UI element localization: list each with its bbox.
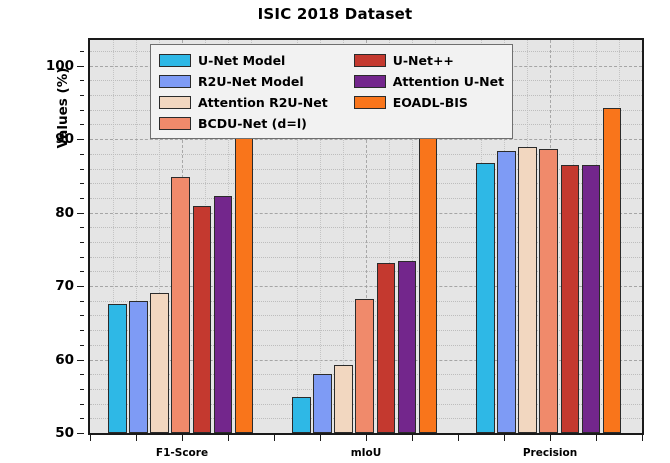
bar-attention-r2u-net-miou: [334, 365, 353, 433]
y-tick-minor: [80, 418, 84, 419]
chart-figure: ISIC 2018 Dataset Values (%) 50607080901…: [0, 0, 670, 463]
y-tick-minor: [80, 389, 84, 390]
bar-u-net-model-precision: [476, 163, 495, 433]
x-tick: [228, 435, 229, 441]
legend-swatch-icon: [159, 75, 191, 88]
bar-bcdu-net-d-l-precision: [539, 149, 558, 433]
bar-bcdu-net-d-l-miou: [355, 299, 374, 433]
legend-item-eoadl-bis[interactable]: EOADL-BIS: [354, 92, 504, 112]
y-tick-label: 90: [55, 131, 74, 147]
bar-eoadl-bis-precision: [603, 108, 622, 433]
legend-label: Attention U-Net: [393, 74, 504, 89]
y-tick-minor: [80, 404, 84, 405]
y-tick-minor: [80, 227, 84, 228]
y-tick-label: 60: [55, 352, 74, 368]
bar-u-net-precision: [561, 165, 580, 433]
y-tick-minor: [80, 315, 84, 316]
y-axis-tick-labels: 5060708090100: [0, 38, 84, 435]
legend-swatch-icon: [159, 54, 191, 67]
y-tick-label: 100: [46, 58, 74, 74]
y-tick-minor: [80, 169, 84, 170]
y-tick-minor: [80, 198, 84, 199]
legend-label: BCDU-Net (d=l): [198, 116, 307, 131]
y-tick-label: 70: [55, 278, 74, 294]
legend-label: EOADL-BIS: [393, 95, 468, 110]
chart-title: ISIC 2018 Dataset: [0, 5, 670, 23]
bar-attention-r2u-net-f1-score: [150, 293, 169, 433]
y-tick-minor: [80, 257, 84, 258]
x-tick-label-precision: Precision: [523, 447, 577, 459]
bar-u-net-f1-score: [193, 206, 212, 433]
y-tick-minor: [80, 345, 84, 346]
x-tick-label-f1-score: F1-Score: [156, 447, 208, 459]
legend-item-r2u-net-model[interactable]: R2U-Net Model: [159, 71, 328, 91]
y-tick-minor: [80, 301, 84, 302]
legend-label: R2U-Net Model: [198, 74, 304, 89]
bar-attention-r2u-net-precision: [518, 147, 537, 433]
legend-swatch-icon: [159, 96, 191, 109]
bar-eoadl-bis-f1-score: [235, 108, 254, 433]
bar-u-net-miou: [377, 263, 396, 433]
bar-u-net-model-miou: [292, 397, 311, 433]
y-tick-major: [77, 213, 84, 214]
y-tick-label: 50: [55, 425, 74, 441]
legend-swatch-icon: [354, 54, 386, 67]
legend-item-u-net-model[interactable]: U-Net Model: [159, 50, 328, 70]
x-tick: [274, 435, 275, 441]
legend-item-u-net[interactable]: U-Net++: [354, 50, 504, 70]
y-tick-major: [77, 433, 84, 434]
y-tick-minor: [80, 330, 84, 331]
legend-swatch-icon: [354, 75, 386, 88]
bar-attention-u-net-precision: [582, 165, 601, 433]
chart-legend: U-Net ModelU-Net++R2U-Net ModelAttention…: [150, 44, 513, 139]
x-tick: [136, 435, 137, 441]
bar-r2u-net-model-f1-score: [129, 301, 148, 433]
x-axis-tick-labels: F1-ScoremIoUPrecision: [88, 435, 644, 463]
bar-bcdu-net-d-l-f1-score: [171, 177, 190, 433]
legend-item-attention-r2u-net[interactable]: Attention R2U-Net: [159, 92, 328, 112]
bar-attention-u-net-f1-score: [214, 196, 233, 433]
y-tick-major: [77, 66, 84, 67]
y-tick-minor: [80, 374, 84, 375]
y-tick-minor: [80, 51, 84, 52]
y-tick-minor: [80, 124, 84, 125]
bar-r2u-net-model-miou: [313, 374, 332, 434]
x-tick: [550, 435, 551, 441]
y-tick-major: [77, 139, 84, 140]
legend-swatch-icon: [159, 117, 191, 130]
legend-label: U-Net++: [393, 53, 454, 68]
legend-label: Attention R2U-Net: [198, 95, 328, 110]
bar-r2u-net-model-precision: [497, 151, 516, 433]
x-tick-label-miou: mIoU: [351, 447, 382, 459]
y-tick-major: [77, 286, 84, 287]
y-tick-minor: [80, 242, 84, 243]
bar-attention-u-net-miou: [398, 261, 417, 433]
y-tick-minor: [80, 154, 84, 155]
x-tick: [458, 435, 459, 441]
legend-item-attention-u-net[interactable]: Attention U-Net: [354, 71, 504, 91]
legend-item-bcdu-net-d-l[interactable]: BCDU-Net (d=l): [159, 113, 328, 133]
y-tick-major: [77, 360, 84, 361]
y-tick-minor: [80, 80, 84, 81]
legend-swatch-icon: [354, 96, 386, 109]
y-tick-minor: [80, 271, 84, 272]
x-tick: [642, 435, 643, 441]
y-tick-minor: [80, 95, 84, 96]
x-tick: [182, 435, 183, 441]
bar-eoadl-bis-miou: [419, 105, 438, 433]
legend-label: U-Net Model: [198, 53, 285, 68]
x-tick: [366, 435, 367, 441]
y-tick-minor: [80, 183, 84, 184]
y-tick-minor: [80, 110, 84, 111]
x-tick: [320, 435, 321, 441]
x-tick: [504, 435, 505, 441]
y-tick-label: 80: [55, 205, 74, 221]
x-tick: [90, 435, 91, 441]
x-tick: [596, 435, 597, 441]
x-tick: [412, 435, 413, 441]
bar-u-net-model-f1-score: [108, 304, 127, 433]
